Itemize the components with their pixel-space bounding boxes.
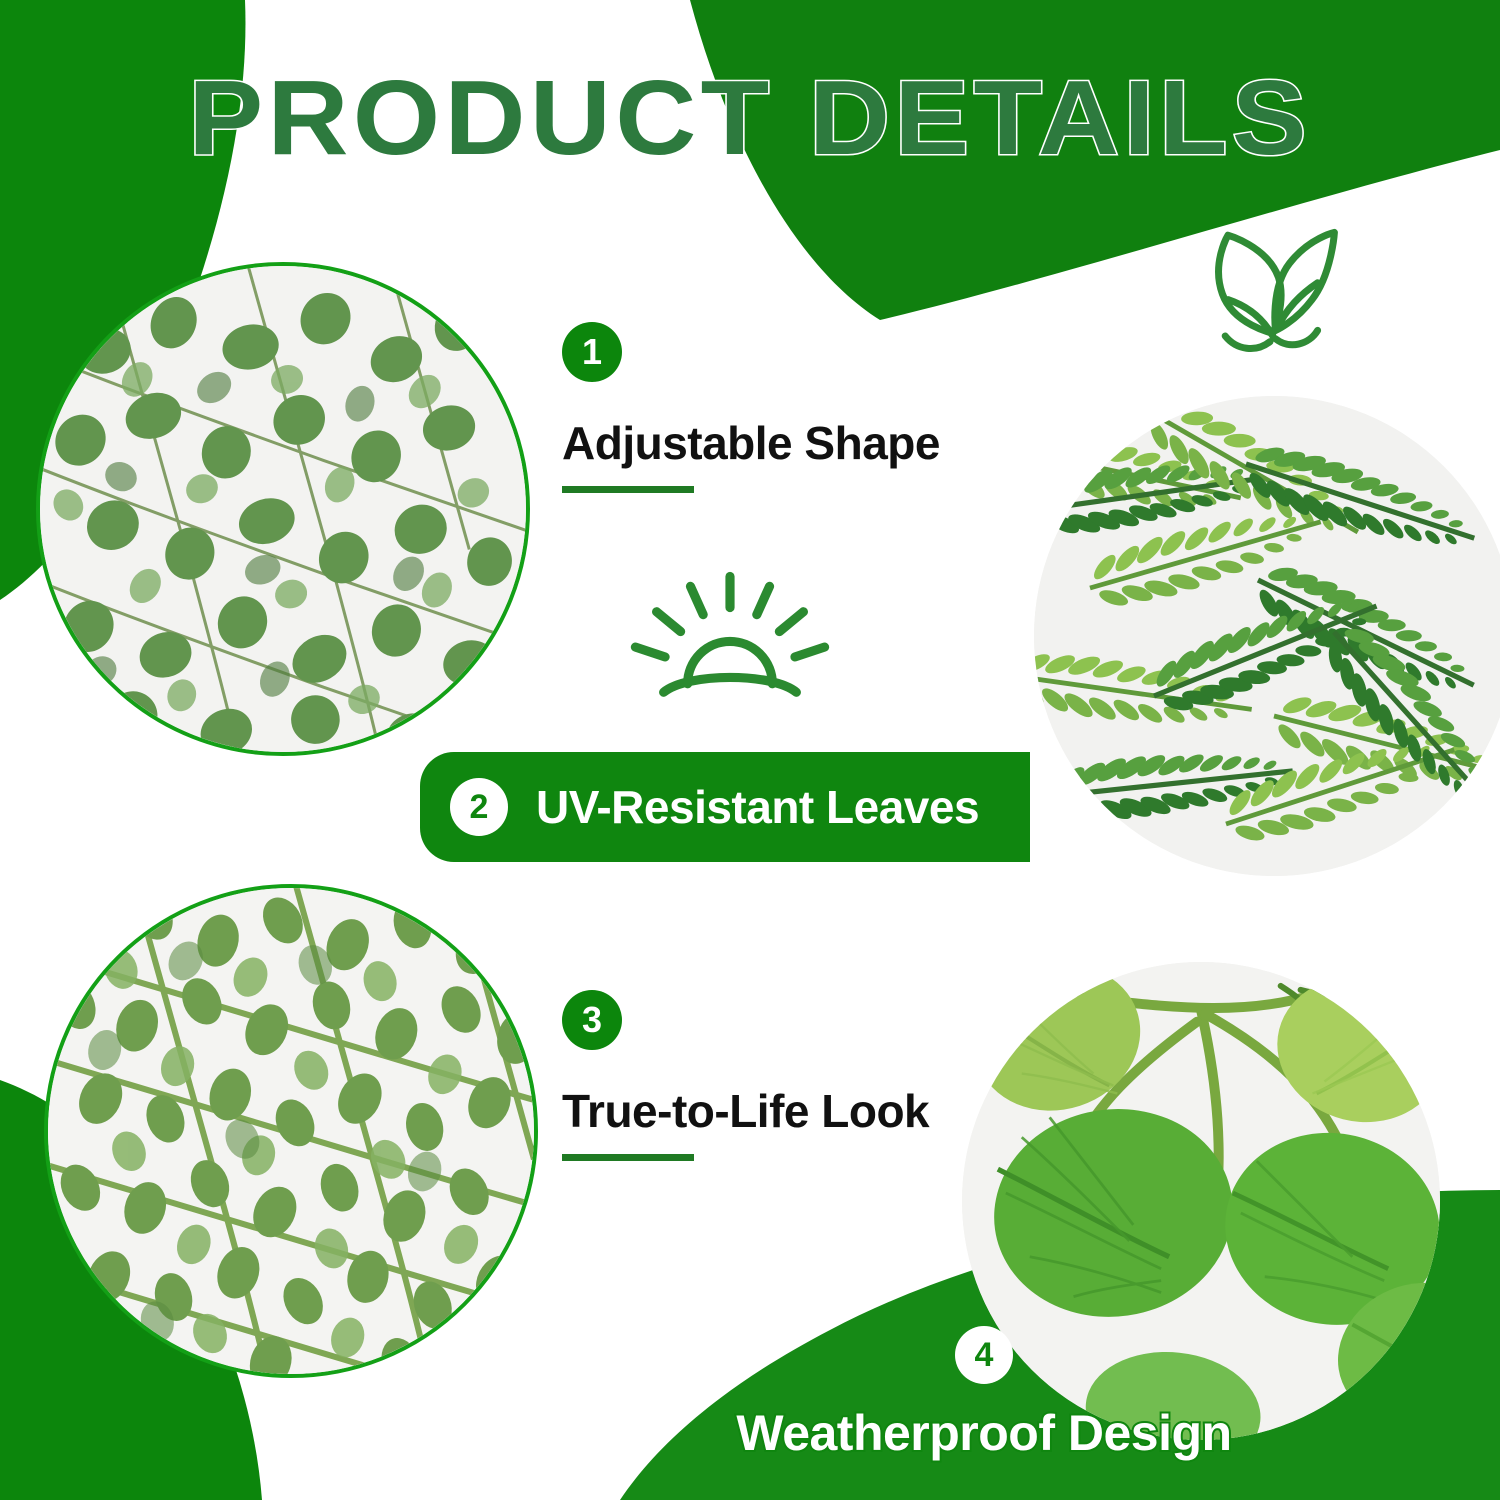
feature-badge-1: 1 [562,322,622,382]
feature-photo-3 [44,884,538,1378]
leaf-sprout-icon [1186,196,1354,364]
feature-block-3: 3 True-to-Life Look [562,990,929,1161]
page-title: PRODUCT DETAILS [189,58,1312,179]
feature-photo-2 [1034,396,1500,876]
feature-label-3: True-to-Life Look [562,1084,929,1138]
feature-badge-2: 2 [450,778,508,836]
fern-fronds-photo [1034,396,1500,876]
eucalyptus-round-leaves-photo [40,266,526,752]
feature-label-1: Adjustable Shape [562,416,940,470]
feature-label-4: Weatherproof Design [736,1404,1231,1462]
feature-badge-4: 4 [955,1326,1013,1384]
feature-rule-1 [562,486,694,493]
infographic-canvas: PRODUCT DETAILS [0,0,1500,1500]
string-of-pearls-succulent-photo [48,888,534,1374]
feature-badge-3: 3 [562,990,622,1050]
feature-rule-3 [562,1154,694,1161]
feature-block-1: 1 Adjustable Shape [562,322,940,493]
feature-block-2: 2 UV-Resistant Leaves [420,752,1030,862]
sunrise-icon [624,568,836,712]
feature-photo-1 [36,262,530,756]
feature-label-2: UV-Resistant Leaves [536,780,979,834]
feature-block-4: 4 Weatherproof Design [744,1326,1224,1462]
page-title-wrap: PRODUCT DETAILS [0,58,1500,179]
